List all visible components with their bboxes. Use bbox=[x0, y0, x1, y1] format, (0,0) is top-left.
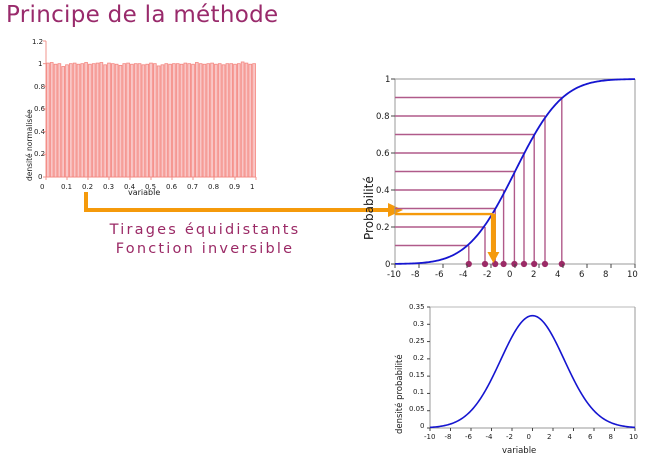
chart2-xtick: 2 bbox=[531, 270, 536, 280]
histogram-bar bbox=[127, 63, 130, 177]
chart2-ytick: 1 bbox=[385, 75, 390, 85]
chart1-ytick: 0 bbox=[38, 173, 42, 181]
histogram-bar bbox=[195, 63, 198, 177]
highlight-vertical-arrow-head bbox=[487, 252, 499, 263]
histogram-bar bbox=[237, 64, 240, 177]
histogram-bar bbox=[180, 64, 183, 177]
histogram-bar bbox=[104, 65, 107, 177]
histogram-bar bbox=[123, 64, 126, 177]
histogram-bar bbox=[253, 64, 256, 177]
chart3-ytick: 0.25 bbox=[409, 337, 425, 345]
histogram-bar bbox=[81, 64, 84, 177]
histogram-bar bbox=[73, 63, 76, 177]
histogram-bar bbox=[192, 64, 195, 177]
chart3-y-axis-label: densité probabilité bbox=[395, 354, 405, 434]
quantile-marker-dot bbox=[542, 261, 548, 267]
histogram-bar bbox=[211, 63, 214, 177]
histogram-bar bbox=[176, 64, 179, 177]
chart2-plot-area bbox=[395, 79, 640, 279]
histogram-bar bbox=[241, 62, 244, 177]
chart3-xtick: -4 bbox=[486, 433, 493, 441]
caption-line-2: Fonction inversible bbox=[75, 240, 335, 259]
histogram-bar bbox=[50, 63, 53, 177]
histogram-bar bbox=[54, 64, 57, 177]
quantile-marker-dot bbox=[482, 261, 488, 267]
histogram-bar bbox=[100, 63, 103, 177]
histogram-bar bbox=[146, 64, 149, 177]
quantile-marker-dot bbox=[531, 261, 537, 267]
histogram-bar bbox=[150, 63, 153, 177]
histogram-bar bbox=[188, 64, 191, 177]
histogram-bar bbox=[230, 64, 233, 177]
histogram-bar bbox=[203, 64, 206, 177]
chart2-xtick: 0 bbox=[507, 270, 512, 280]
histogram-bar bbox=[245, 63, 248, 177]
chart1-plot-area bbox=[46, 41, 258, 181]
chart2-xtick: -4 bbox=[459, 270, 467, 280]
chart3-xtick: -10 bbox=[424, 433, 435, 441]
histogram-bar bbox=[222, 65, 225, 177]
chart2-xtick: 4 bbox=[555, 270, 560, 280]
method-captions: Tirages équidistants Fonction inversible bbox=[75, 221, 335, 259]
chart3-xtick: -8 bbox=[445, 433, 452, 441]
chart3-xtick: -2 bbox=[506, 433, 513, 441]
chart3-xtick: 8 bbox=[609, 433, 613, 441]
histogram-bar bbox=[157, 66, 160, 177]
histogram-bar bbox=[184, 63, 187, 177]
chart2-xtick: 6 bbox=[579, 270, 584, 280]
chart3-xtick: 2 bbox=[547, 433, 551, 441]
chart2-xtick: 10 bbox=[627, 270, 638, 280]
chart3-xtick: 10 bbox=[629, 433, 638, 441]
histogram-bar bbox=[249, 64, 252, 177]
histogram-bar bbox=[115, 64, 118, 177]
chart3-ytick: 0.2 bbox=[413, 354, 424, 362]
chart1-ytick: 1.2 bbox=[32, 38, 43, 46]
chart3-xtick: 6 bbox=[588, 433, 592, 441]
histogram-bar bbox=[173, 64, 176, 177]
histogram-bar bbox=[131, 64, 134, 177]
quantile-marker-dot bbox=[559, 261, 565, 267]
histogram-bar bbox=[119, 65, 122, 177]
chart2-ytick: 0.8 bbox=[376, 112, 390, 122]
chart2-xtick: -2 bbox=[483, 270, 491, 280]
chart2-xtick: -6 bbox=[435, 270, 443, 280]
histogram-bar bbox=[207, 64, 210, 177]
chart3-xtick: 4 bbox=[568, 433, 572, 441]
uniform-histogram-chart: densité normalisée 1.2 1 0.8 0.6 0.4 0.2… bbox=[18, 36, 268, 201]
histogram-bar bbox=[142, 65, 145, 177]
histogram-bar bbox=[153, 64, 156, 177]
chart2-xtick: -8 bbox=[411, 270, 419, 280]
histogram-bar bbox=[199, 64, 202, 177]
chart3-xtick: -6 bbox=[465, 433, 472, 441]
chart2-ytick: 0 bbox=[385, 260, 390, 270]
chart2-ytick: 0.2 bbox=[376, 223, 390, 233]
histogram-bar bbox=[234, 64, 237, 177]
quantile-marker-dot bbox=[511, 261, 517, 267]
histogram-bar bbox=[66, 65, 69, 177]
histogram-bar bbox=[62, 67, 65, 178]
chart1-xtick: 0 bbox=[40, 183, 44, 191]
quantile-marker-dot bbox=[501, 261, 507, 267]
chart2-xtick: 8 bbox=[603, 270, 608, 280]
chart1-ytick: 1 bbox=[38, 60, 42, 68]
histogram-bar bbox=[165, 64, 168, 177]
chart3-ytick: 0.35 bbox=[409, 303, 425, 311]
histogram-bar bbox=[85, 63, 88, 177]
histogram-bar bbox=[134, 64, 137, 177]
histogram-bar bbox=[69, 64, 72, 177]
histogram-bar bbox=[215, 64, 218, 177]
histogram-bar bbox=[96, 63, 99, 177]
chart3-ytick: 0.3 bbox=[413, 320, 424, 328]
chart3-ytick: 0 bbox=[420, 422, 424, 430]
histogram-bar bbox=[226, 64, 229, 177]
histogram-bar bbox=[138, 64, 141, 177]
histogram-bar bbox=[169, 64, 172, 177]
histogram-bar bbox=[58, 64, 61, 177]
chart3-ytick: 0.15 bbox=[409, 371, 425, 379]
chart2-ytick: 0.6 bbox=[376, 149, 390, 159]
chart3-ytick: 0.1 bbox=[413, 388, 424, 396]
chart3-x-axis-label: variable bbox=[502, 446, 536, 456]
chart3-ytick: 0.05 bbox=[409, 405, 425, 413]
histogram-bar bbox=[161, 65, 164, 177]
chart2-xtick: -10 bbox=[387, 270, 401, 280]
histogram-bar bbox=[108, 63, 111, 177]
histogram-bar bbox=[92, 64, 95, 177]
probability-density-chart: densité probabilité 0.35 0.3 0.25 0.2 0.… bbox=[390, 302, 648, 462]
slide-canvas: Principe de la méthode densité normalisé… bbox=[0, 0, 650, 467]
histogram-bar bbox=[218, 64, 221, 177]
chart2-y-axis-label: Probabilité bbox=[362, 176, 376, 240]
caption-line-1: Tirages équidistants bbox=[75, 221, 335, 240]
page-title: Principe de la méthode bbox=[6, 2, 278, 28]
cumulative-probability-chart: Probabilité 1 0.8 0.6 0.4 0.2 0 -10-8-6-… bbox=[352, 70, 647, 285]
histogram-bar bbox=[111, 64, 114, 177]
chart3-plot-area bbox=[430, 307, 642, 442]
histogram-bar bbox=[47, 63, 50, 177]
histogram-bar bbox=[89, 64, 92, 177]
chart3-xtick: 0 bbox=[527, 433, 531, 441]
quantile-marker-dot bbox=[521, 261, 527, 267]
chart1-ytick: 0.8 bbox=[34, 83, 45, 91]
chart2-ytick: 0.4 bbox=[376, 186, 390, 196]
histogram-bar bbox=[77, 64, 80, 177]
chart1-y-axis-label: densité normalisée bbox=[25, 109, 34, 181]
